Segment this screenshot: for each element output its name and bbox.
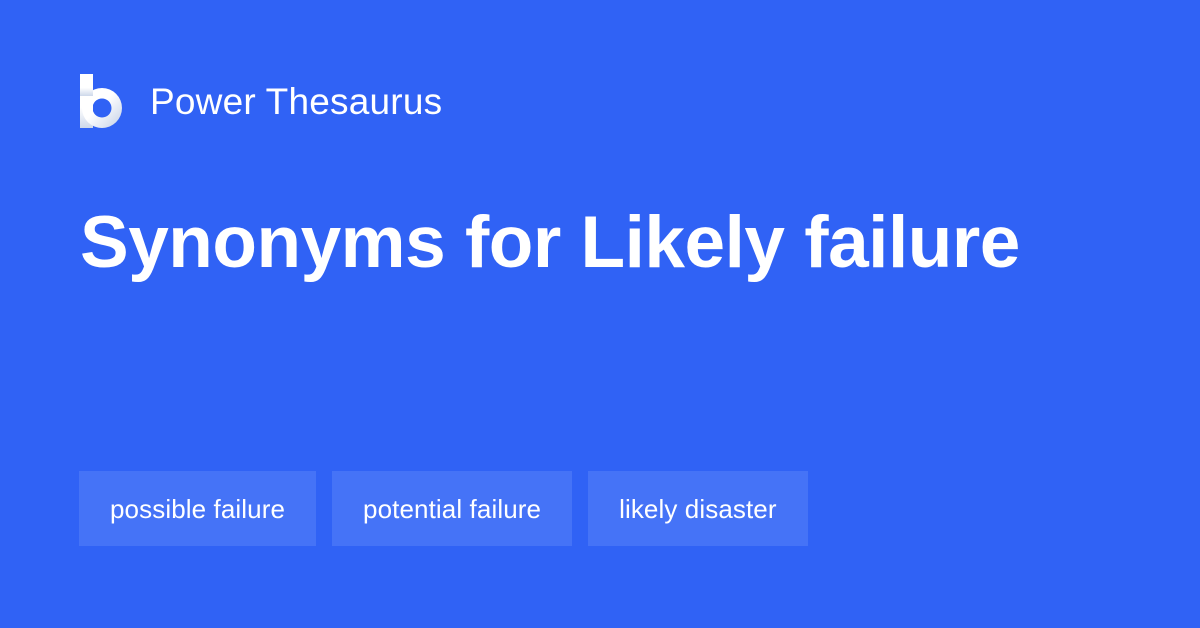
brand-header[interactable]: Power Thesaurus xyxy=(79,72,442,130)
og-share-card: Power Thesaurus Synonyms for Likely fail… xyxy=(0,0,1200,628)
synonym-chip-list: possible failure potential failure likel… xyxy=(79,471,808,546)
synonym-chip-label: potential failure xyxy=(363,496,541,522)
synonym-chip[interactable]: likely disaster xyxy=(588,471,808,546)
page-title: Synonyms for Likely failure xyxy=(80,186,1020,299)
brand-name: Power Thesaurus xyxy=(150,83,442,120)
synonym-chip-label: possible failure xyxy=(110,496,285,522)
power-thesaurus-b-logo-icon xyxy=(79,73,127,129)
synonym-chip[interactable]: possible failure xyxy=(79,471,316,546)
synonym-chip-label: likely disaster xyxy=(619,496,777,522)
synonym-chip[interactable]: potential failure xyxy=(332,471,572,546)
